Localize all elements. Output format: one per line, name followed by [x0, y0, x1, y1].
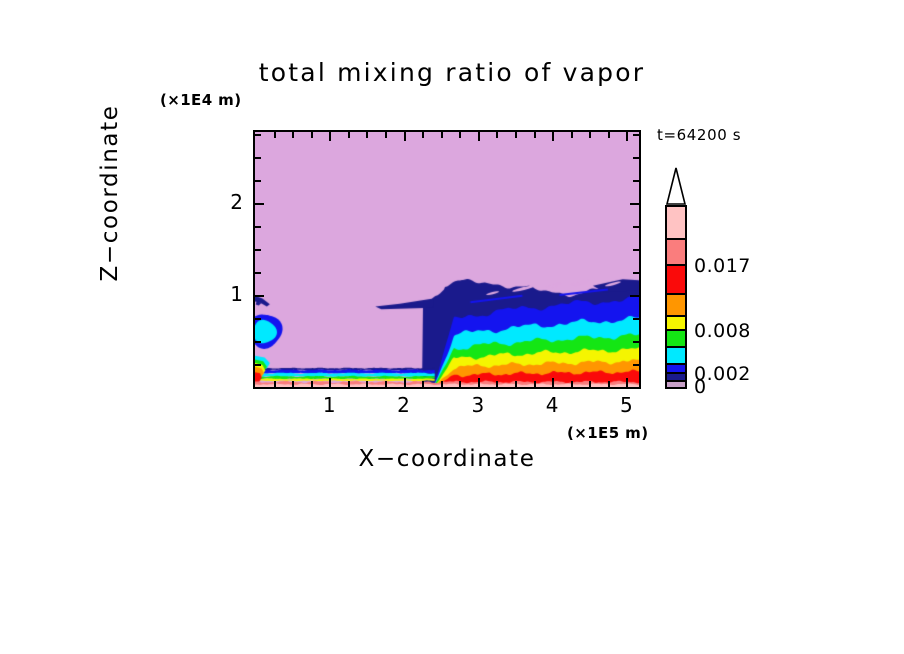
colorbar-separator	[667, 329, 685, 331]
x-tick-bottom	[441, 381, 443, 387]
x-tick-label: 3	[463, 393, 493, 417]
y-tick-left	[255, 134, 261, 136]
contour-field-canvas	[255, 132, 639, 387]
y-tick-right	[630, 203, 639, 205]
x-tick-bottom	[329, 378, 331, 387]
x-tick-top	[422, 132, 424, 138]
colorbar-band-orange	[667, 295, 685, 317]
y-tick-label: 1	[215, 282, 243, 306]
y-tick-right	[633, 318, 639, 320]
x-tick-label: 2	[389, 393, 419, 417]
colorbar-tick-label: 0.002	[694, 363, 751, 385]
y-tick-right	[633, 249, 639, 251]
y-tick-right	[633, 134, 639, 136]
x-tick-top	[385, 132, 387, 138]
y-tick-left	[255, 272, 261, 274]
x-tick-bottom	[274, 381, 276, 387]
y-tick-right	[633, 180, 639, 182]
x-tick-top	[571, 132, 573, 138]
y-tick-right	[633, 272, 639, 274]
y-tick-right	[633, 157, 639, 159]
y-tick-left	[255, 157, 261, 159]
x-tick-top	[552, 132, 554, 141]
x-tick-bottom	[608, 381, 610, 387]
x-tick-bottom	[311, 381, 313, 387]
colorbar-separator	[667, 293, 685, 295]
x-tick-bottom	[348, 381, 350, 387]
page-title: total mixing ratio of vapor	[0, 58, 904, 87]
y-tick-left	[255, 295, 264, 297]
x-tick-bottom	[422, 381, 424, 387]
x-tick-label: 4	[537, 393, 567, 417]
x-tick-bottom	[571, 381, 573, 387]
x-tick-top	[608, 132, 610, 138]
colorbar-separator	[667, 380, 685, 382]
x-tick-top	[478, 132, 480, 141]
x-tick-bottom	[626, 378, 628, 387]
x-tick-top	[515, 132, 517, 138]
x-tick-bottom	[534, 381, 536, 387]
x-tick-label: 1	[314, 393, 344, 417]
colorbar-separator	[667, 315, 685, 317]
x-tick-label: 5	[611, 393, 641, 417]
time-stamp-label: t=64200 s	[657, 126, 741, 144]
x-tick-bottom	[385, 381, 387, 387]
x-tick-bottom	[366, 381, 368, 387]
y-tick-left	[255, 364, 261, 366]
x-tick-bottom	[515, 381, 517, 387]
colorbar	[664, 167, 688, 389]
y-tick-left	[255, 203, 264, 205]
x-tick-bottom	[478, 378, 480, 387]
x-axis-unit-label: (×1E5 m)	[567, 424, 648, 442]
x-tick-top	[626, 132, 628, 141]
x-tick-top	[496, 132, 498, 138]
x-tick-top	[292, 132, 294, 138]
colorbar-band-pale-plum	[667, 382, 685, 387]
y-tick-left	[255, 180, 261, 182]
x-tick-bottom	[292, 381, 294, 387]
x-tick-top	[589, 132, 591, 138]
y-tick-left	[255, 226, 261, 228]
colorbar-separator	[667, 264, 685, 266]
x-axis-title: X−coordinate	[253, 446, 641, 472]
colorbar-separator	[667, 238, 685, 240]
x-tick-top	[329, 132, 331, 141]
x-tick-bottom	[459, 381, 461, 387]
x-tick-bottom	[496, 381, 498, 387]
overflow-arrow-icon	[664, 167, 688, 205]
colorbar-separator	[667, 346, 685, 348]
y-axis-unit-label: (×1E4 m)	[160, 91, 241, 109]
x-tick-top	[366, 132, 368, 138]
x-tick-top	[404, 132, 406, 141]
y-tick-right	[633, 226, 639, 228]
x-tick-top	[459, 132, 461, 138]
x-tick-top	[274, 132, 276, 138]
colorbar-band-light-pink	[667, 207, 685, 240]
y-tick-left	[255, 341, 261, 343]
x-tick-top	[311, 132, 313, 138]
y-tick-label: 2	[215, 190, 243, 214]
colorbar-tick-label: 0.017	[694, 255, 751, 277]
y-tick-right	[633, 341, 639, 343]
x-tick-top	[441, 132, 443, 138]
colorbar-band-salmon	[667, 240, 685, 265]
y-tick-left	[255, 249, 261, 251]
colorbar-bands	[665, 205, 687, 389]
x-tick-top	[534, 132, 536, 138]
x-tick-bottom	[404, 378, 406, 387]
x-tick-top	[348, 132, 350, 138]
y-tick-left	[255, 318, 261, 320]
x-tick-bottom	[552, 378, 554, 387]
colorbar-tick-label: 0.008	[694, 320, 751, 342]
colorbar-separator	[667, 372, 685, 374]
contour-plot-area	[253, 130, 641, 389]
y-axis-title: Z−coordinate	[97, 63, 123, 323]
y-tick-right	[630, 295, 639, 297]
y-tick-right	[633, 364, 639, 366]
colorbar-band-red	[667, 266, 685, 296]
x-tick-bottom	[589, 381, 591, 387]
colorbar-separator	[667, 363, 685, 365]
